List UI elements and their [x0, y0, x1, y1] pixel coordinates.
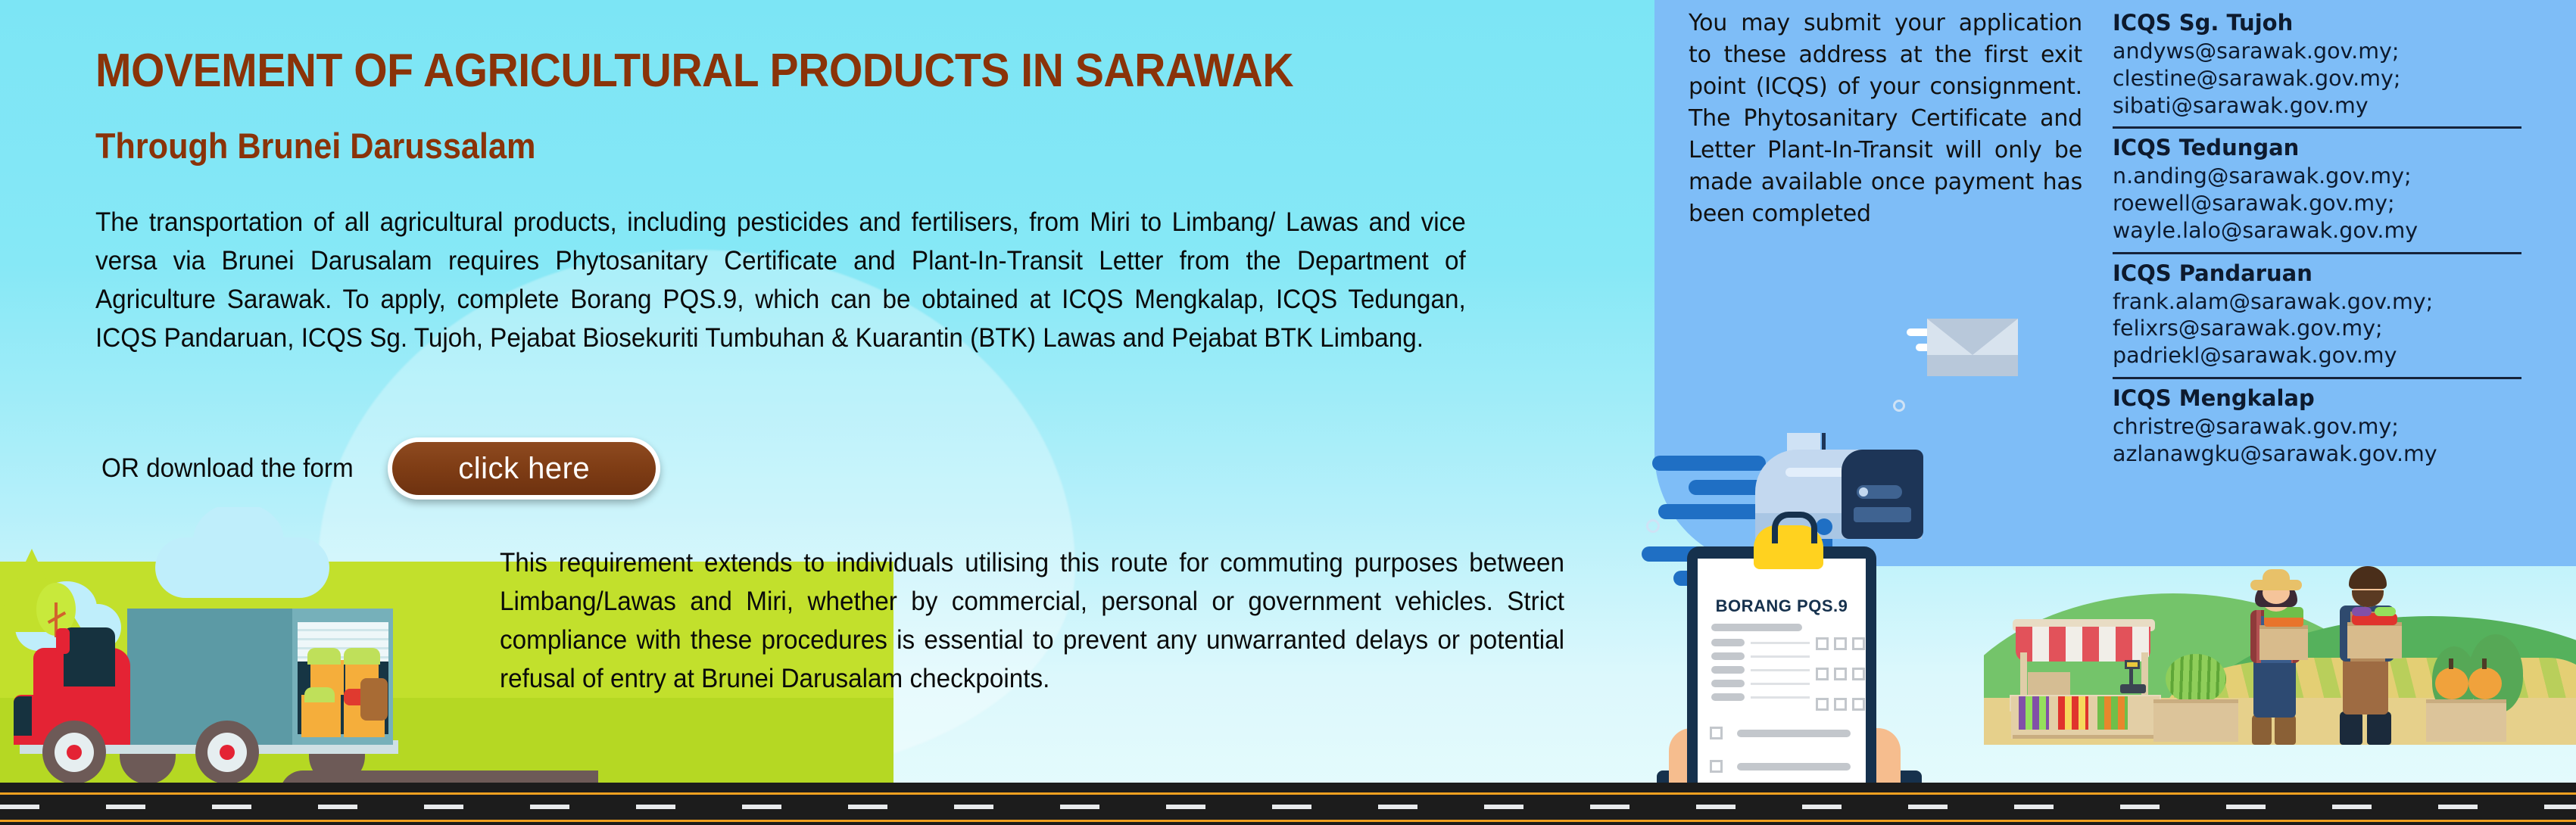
form-bar [1711, 652, 1745, 660]
mailbox-flag-knob [1816, 518, 1832, 535]
form-checkbox[interactable] [1834, 698, 1847, 711]
crate-edge [2013, 735, 2158, 739]
road-shoulder-strip [0, 783, 2576, 789]
pumpkin [2435, 668, 2468, 699]
form-bar [1737, 730, 1851, 737]
form-bar [1711, 693, 1745, 701]
truck-cargo-box [127, 609, 292, 745]
eggplant [2352, 607, 2372, 616]
clipboard-clip [1754, 525, 1823, 569]
farmer-woman [2234, 571, 2317, 745]
produce-peppers [2097, 696, 2128, 730]
speed-line [1652, 456, 1766, 471]
boot [2275, 714, 2296, 745]
sack [2028, 672, 2070, 695]
cabbage [2375, 607, 2396, 616]
truck-icon [14, 592, 423, 789]
scale-post [2129, 668, 2133, 684]
envelope-icon [1927, 319, 2018, 376]
form-checkbox[interactable] [1710, 727, 1723, 739]
mailbox-illustration: BORANG PQS.9 [1666, 319, 2022, 789]
form-line [1751, 642, 1810, 644]
form-bar [1711, 639, 1745, 646]
cloud-icon [155, 537, 329, 598]
leafy-greens [344, 648, 380, 665]
produce-crate [2347, 622, 2402, 658]
form-bar [1711, 624, 1802, 631]
beard [2352, 590, 2384, 607]
crate [2153, 699, 2238, 742]
produce-tomatoes [2058, 696, 2088, 730]
icqs-email[interactable]: n.anding@sarawak.gov.my; [2113, 163, 2521, 190]
bubble-icon [1646, 519, 1660, 533]
icqs-email[interactable]: clestine@sarawak.gov.my; [2113, 65, 2521, 92]
mailbox-handle [1857, 485, 1902, 499]
form-line [1751, 696, 1810, 699]
boot [2340, 711, 2362, 745]
icqs-email[interactable]: roewell@sarawak.gov.my; [2113, 190, 2521, 217]
icqs-contact-block: ICQS Sg. Tujoh andyws@sarawak.gov.my; cl… [2113, 9, 2521, 122]
scale-display [2125, 660, 2140, 669]
form-checkbox[interactable] [1710, 760, 1723, 773]
watermelon [2166, 654, 2226, 704]
road-edge-line [0, 820, 2576, 822]
straw-hat-crown [2263, 569, 2290, 584]
icqs-email[interactable]: frank.alam@sarawak.gov.my; [2113, 288, 2521, 316]
wheel-icon [42, 721, 106, 784]
stall-post [2020, 652, 2027, 698]
wheel-icon [195, 721, 259, 784]
mailbox-slot [1854, 507, 1911, 522]
farmer-man [2326, 562, 2417, 745]
produce-eggplants [2019, 696, 2049, 730]
submission-note: You may submit your application to these… [1689, 8, 2082, 230]
wheel-arch [309, 754, 365, 784]
icqs-email[interactable]: azlanawgku@sarawak.gov.my [2113, 441, 2521, 468]
form-checkbox[interactable] [1852, 637, 1865, 650]
weighing-scale [2120, 684, 2146, 693]
icqs-email[interactable]: wayle.lalo@sarawak.gov.my [2113, 217, 2521, 244]
wheel-arch [120, 754, 176, 784]
road [0, 789, 2576, 825]
form-checkbox[interactable] [1834, 637, 1847, 650]
overalls-legs [2253, 657, 2296, 718]
form-paper: BORANG PQS.9 [1698, 559, 1866, 819]
crate [2426, 699, 2506, 742]
icqs-office-name: ICQS Tedungan [2113, 134, 2521, 163]
truck-grille [14, 696, 32, 736]
icqs-contact-block: ICQS Tedungan n.anding@sarawak.gov.my; r… [2113, 126, 2521, 247]
form-checkbox[interactable] [1816, 668, 1829, 680]
clipboard-icon: BORANG PQS.9 [1687, 546, 1876, 819]
icqs-contact-block: ICQS Mengkalap christre@sarawak.gov.my; … [2113, 377, 2521, 471]
icqs-email[interactable]: padriekl@sarawak.gov.my [2113, 342, 2521, 369]
form-checkbox[interactable] [1852, 698, 1865, 711]
icqs-email[interactable]: andyws@sarawak.gov.my; [2113, 38, 2521, 65]
icqs-email[interactable]: christre@sarawak.gov.my; [2113, 413, 2521, 441]
boot [2367, 711, 2391, 745]
icqs-contact-block: ICQS Pandaruan frank.alam@sarawak.gov.my… [2113, 252, 2521, 372]
road-edge-line [0, 792, 2576, 795]
hair [2349, 566, 2387, 589]
bubble-icon [1893, 400, 1905, 412]
form-checkbox[interactable] [1834, 668, 1847, 680]
boot [2252, 714, 2272, 745]
download-row: OR download the form click here [101, 437, 660, 500]
farm-market-illustration [1984, 562, 2576, 789]
page-title: MOVEMENT OF AGRICULTURAL PRODUCTS IN SAR… [95, 44, 1293, 98]
form-line [1751, 683, 1810, 685]
icqs-office-name: ICQS Sg. Tujoh [2113, 9, 2521, 38]
form-line [1751, 669, 1810, 671]
leafy-greens [304, 687, 335, 702]
icqs-email[interactable]: felixrs@sarawak.gov.my; [2113, 315, 2521, 342]
leafy-greens [307, 648, 341, 665]
download-label: OR download the form [101, 453, 354, 484]
form-checkbox[interactable] [1816, 698, 1829, 711]
icqs-email[interactable]: sibati@sarawak.gov.my [2113, 92, 2521, 120]
truck-window [64, 627, 115, 686]
form-checkbox[interactable] [1816, 637, 1829, 650]
cargo-crates [301, 654, 386, 737]
pumpkin [2468, 668, 2502, 699]
stall-awning [2016, 627, 2150, 662]
barrel [360, 678, 388, 721]
road-dashes [0, 805, 2576, 809]
truck-mirror [56, 628, 70, 654]
form-checkbox[interactable] [1852, 668, 1865, 680]
form-title: BORANG PQS.9 [1698, 596, 1866, 616]
icqs-office-name: ICQS Pandaruan [2113, 260, 2521, 288]
form-line [1751, 655, 1810, 658]
icqs-office-name: ICQS Mengkalap [2113, 384, 2521, 413]
main-paragraph-1: The transportation of all agricultural p… [95, 203, 1466, 357]
form-bar [1711, 680, 1745, 687]
click-here-button[interactable]: click here [388, 437, 660, 500]
page-subtitle: Through Brunei Darussalam [95, 125, 535, 167]
form-bar [1737, 763, 1851, 771]
produce-crate [2259, 625, 2308, 660]
main-paragraph-2: This requirement extends to individuals … [500, 543, 1564, 698]
form-bar [1711, 666, 1745, 674]
icqs-contacts-list: ICQS Sg. Tujoh andyws@sarawak.gov.my; cl… [2113, 9, 2521, 471]
trousers [2343, 657, 2388, 714]
